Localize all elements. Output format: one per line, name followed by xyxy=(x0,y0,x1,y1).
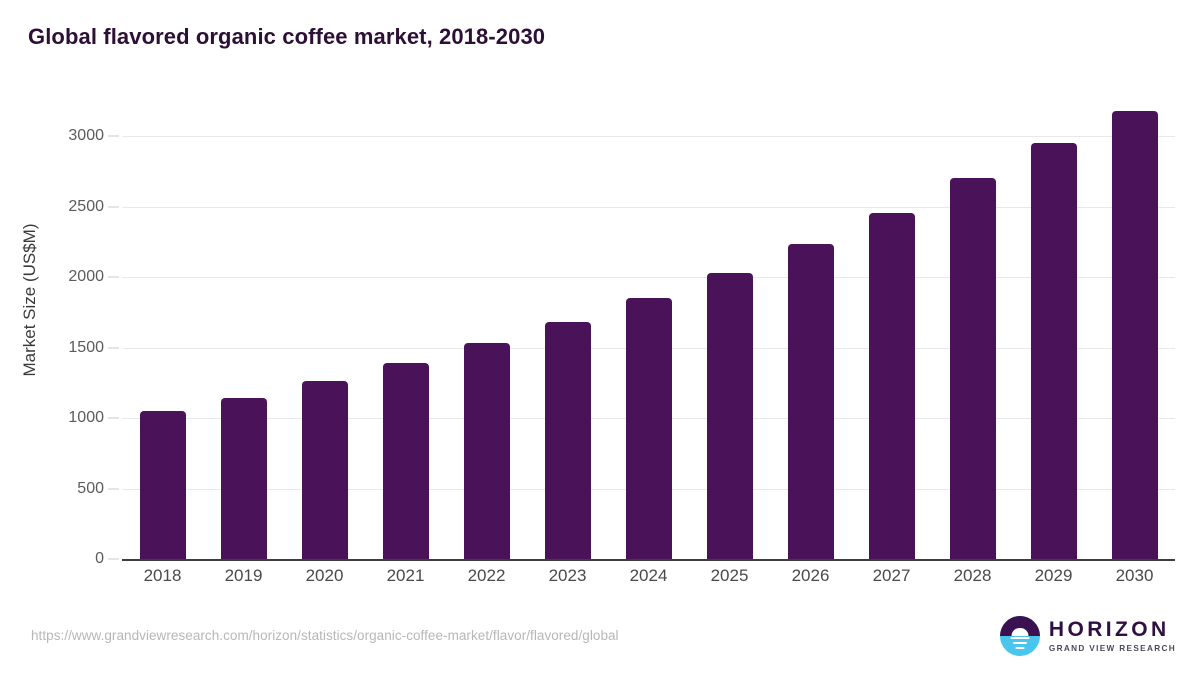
y-axis-tick-label: 500 xyxy=(77,480,104,498)
bar[interactable] xyxy=(1112,111,1158,559)
y-axis-tick-mark xyxy=(108,277,119,278)
y-axis-tick-mark xyxy=(108,488,119,489)
x-axis-tick-label: 2019 xyxy=(199,566,289,586)
bar[interactable] xyxy=(545,322,591,559)
y-axis-tick-mark xyxy=(108,206,119,207)
source-url[interactable]: https://www.grandviewresearch.com/horizo… xyxy=(31,628,619,643)
bar[interactable] xyxy=(221,398,267,559)
horizon-sun-circle-icon xyxy=(1000,616,1040,656)
y-axis-tick-label: 2500 xyxy=(68,198,104,216)
x-axis-tick-label: 2022 xyxy=(442,566,532,586)
x-axis-tick-label: 2023 xyxy=(523,566,613,586)
bar[interactable] xyxy=(626,298,672,559)
bar[interactable] xyxy=(140,411,186,559)
y-axis-tick-label: 3000 xyxy=(68,127,104,145)
x-axis-tick-label: 2026 xyxy=(766,566,856,586)
logo-text: HORIZON GRAND VIEW RESEARCH xyxy=(1049,619,1176,652)
logo-wordmark: HORIZON xyxy=(1049,619,1176,641)
x-axis-tick-label: 2027 xyxy=(847,566,937,586)
x-axis-tick-label: 2024 xyxy=(604,566,694,586)
bar[interactable] xyxy=(869,213,915,559)
gridline xyxy=(122,277,1175,278)
x-axis-line xyxy=(122,559,1175,561)
x-axis-tick-label: 2021 xyxy=(361,566,451,586)
y-axis-tick-labels: 050010001500200025003000 xyxy=(0,136,104,559)
bar[interactable] xyxy=(383,363,429,559)
y-axis-tick-mark xyxy=(108,418,119,419)
x-axis-tick-label: 2020 xyxy=(280,566,370,586)
logo-tagline: GRAND VIEW RESEARCH xyxy=(1049,644,1176,653)
horizon-logo[interactable]: HORIZON GRAND VIEW RESEARCH xyxy=(1000,616,1176,656)
bar[interactable] xyxy=(464,343,510,559)
x-axis-tick-label: 2018 xyxy=(118,566,208,586)
bar[interactable] xyxy=(302,381,348,559)
y-axis-title: Market Size (US$M) xyxy=(20,90,40,510)
bar[interactable] xyxy=(1031,143,1077,559)
gridline xyxy=(122,207,1175,208)
bar[interactable] xyxy=(950,178,996,559)
x-axis-tick-label: 2030 xyxy=(1090,566,1180,586)
y-axis-tick-mark xyxy=(108,136,119,137)
x-axis-tick-labels: 2018201920202021202220232024202520262027… xyxy=(122,566,1175,594)
x-axis-tick-label: 2029 xyxy=(1009,566,1099,586)
gridline xyxy=(122,136,1175,137)
bar[interactable] xyxy=(788,244,834,559)
bar[interactable] xyxy=(707,273,753,559)
y-axis-tick-label: 1500 xyxy=(68,339,104,357)
plot-area xyxy=(122,136,1175,559)
x-axis-tick-label: 2028 xyxy=(928,566,1018,586)
x-axis-tick-label: 2025 xyxy=(685,566,775,586)
chart-page: Global flavored organic coffee market, 2… xyxy=(0,0,1200,675)
y-axis-tick-mark xyxy=(108,559,119,560)
y-axis-tick-label: 0 xyxy=(95,550,104,568)
y-axis-tick-label: 1000 xyxy=(68,409,104,427)
y-axis-tick-mark xyxy=(108,347,119,348)
chart-canvas: 050010001500200025003000 Market Size (US… xyxy=(0,0,1200,675)
y-axis-tick-label: 2000 xyxy=(68,268,104,286)
